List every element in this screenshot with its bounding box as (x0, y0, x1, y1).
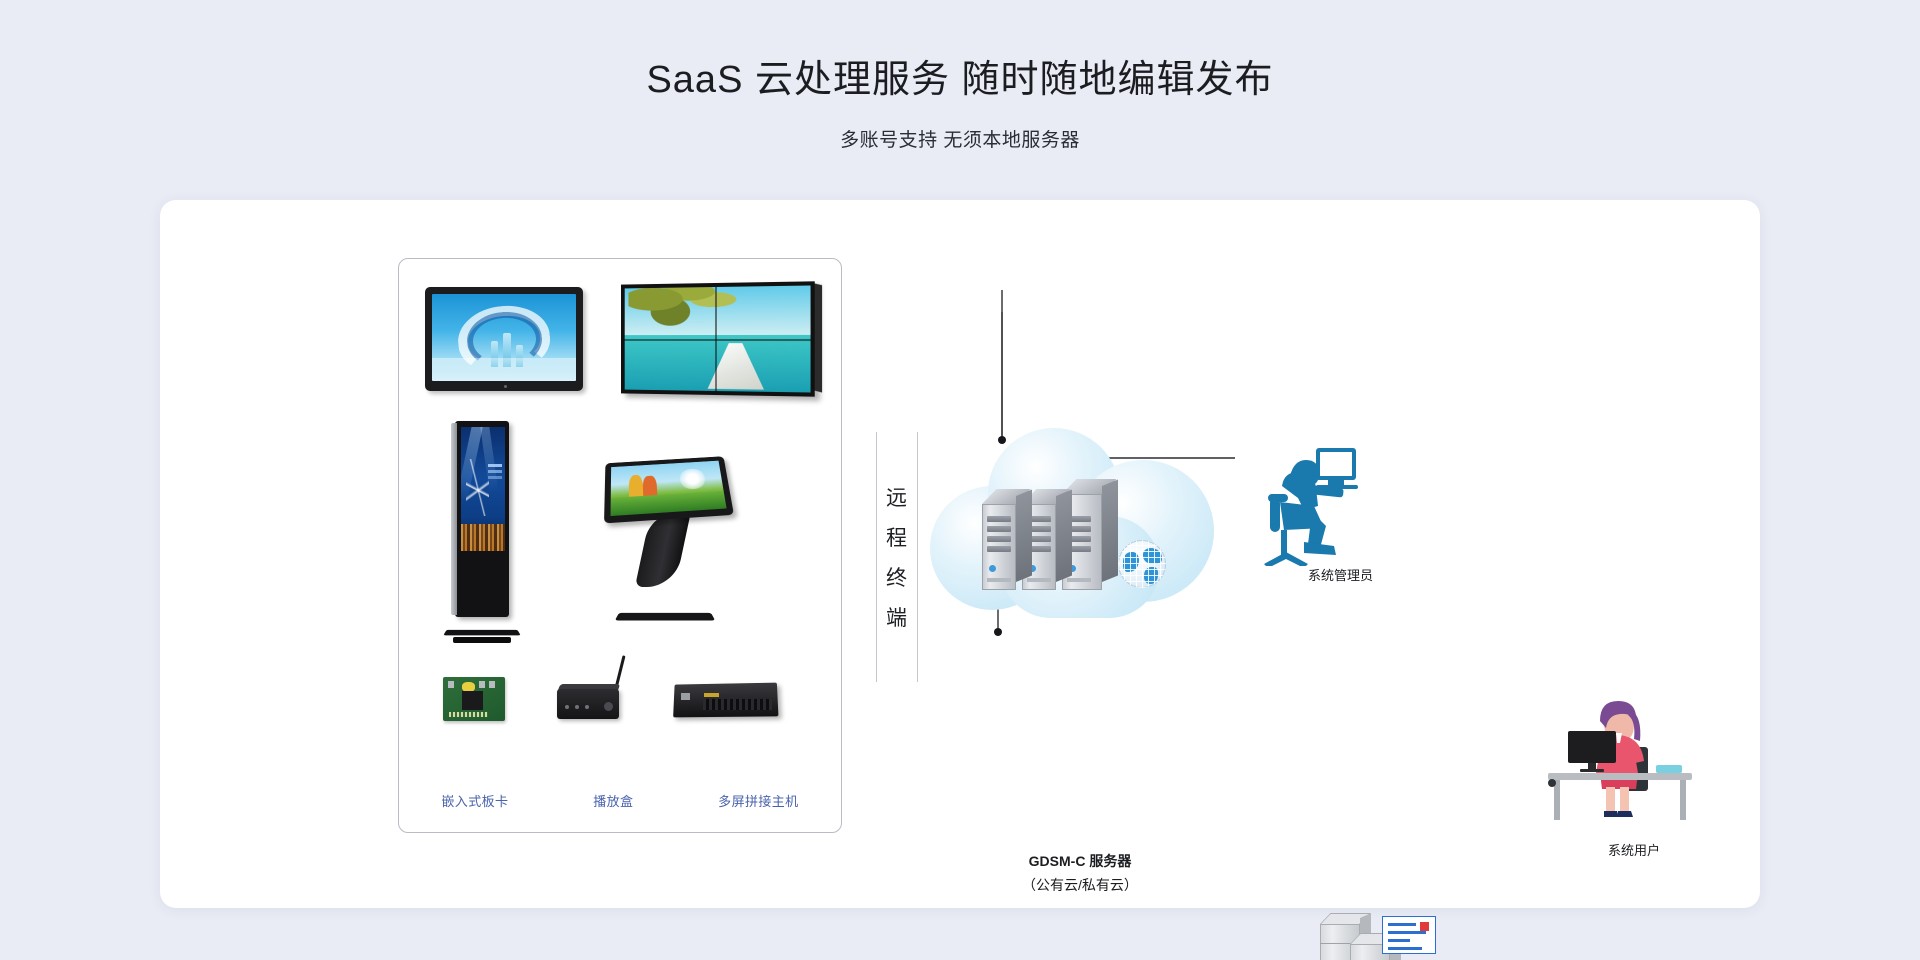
device-label-multi-screen-host: 多屏拼接主机 (718, 791, 798, 810)
cloud-server-subtitle: （公有云/私有云） (930, 874, 1230, 898)
server-rack-icon (982, 470, 1172, 590)
embedded-board-icon (443, 677, 505, 721)
page-root: SaaS 云处理服务 随时随地编辑发布 多账号支持 无须本地服务器 (0, 0, 1920, 960)
remote-terminal-char: 终 (886, 562, 908, 592)
admin-label: 系统管理员 (1308, 565, 1373, 584)
remote-terminal-char: 远 (886, 482, 908, 512)
user-label: 系统用户 (1574, 840, 1694, 859)
cloud-node (930, 412, 1230, 632)
page-title: SaaS 云处理服务 随时随地编辑发布 (0, 48, 1920, 103)
third-party-server-icon (1320, 916, 1440, 960)
standing-signage-kiosk-icon (451, 421, 513, 643)
remote-terminal-label: 远 程 终 端 (876, 432, 918, 682)
remote-terminal-char: 端 (886, 602, 908, 632)
globe-icon (1118, 540, 1166, 588)
remote-terminal-char: 程 (886, 522, 908, 552)
page-subtitle: 多账号支持 无须本地服务器 (0, 125, 1920, 152)
cloud-server-label: GDSM-C 服务器 （公有云/私有云） (930, 850, 1230, 898)
video-wall-icon (621, 281, 815, 396)
document-icon (1382, 916, 1436, 954)
user-at-desk-icon (1546, 695, 1694, 823)
diagram-card: 嵌入式板卡 播放盒 多屏拼接主机 远 程 终 端 (160, 200, 1760, 908)
device-label-embedded-board: 嵌入式板卡 (441, 791, 508, 810)
page-header: SaaS 云处理服务 随时随地编辑发布 多账号支持 无须本地服务器 (0, 0, 1920, 152)
admin-at-computer-icon (1254, 438, 1364, 566)
wall-mounted-display-icon (425, 287, 583, 391)
cloud-server-title: GDSM-C 服务器 (930, 850, 1230, 874)
device-label-media-box: 播放盒 (593, 791, 633, 810)
device-label-row: 嵌入式板卡 播放盒 多屏拼接主机 (399, 791, 841, 810)
touch-table-kiosk-icon (599, 455, 729, 625)
device-panel: 嵌入式板卡 播放盒 多屏拼接主机 (398, 258, 842, 833)
media-player-box-icon (557, 675, 623, 719)
multi-screen-host-icon (673, 683, 777, 717)
